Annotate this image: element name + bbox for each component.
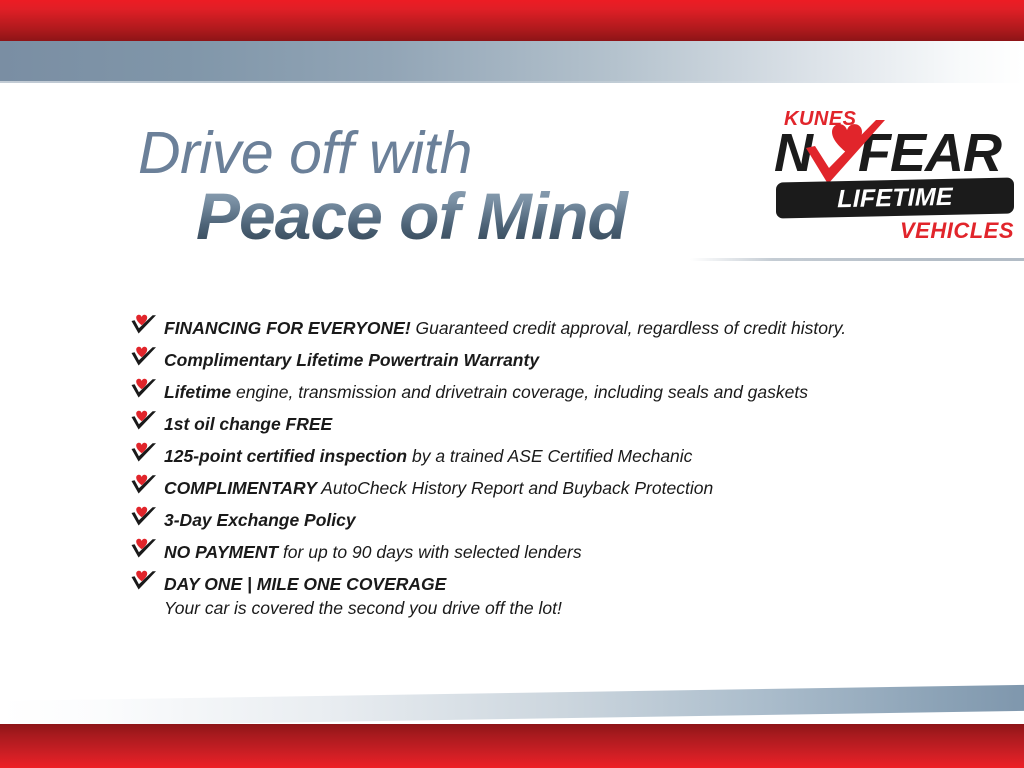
benefit-row: 1st oil change FREE	[130, 408, 930, 440]
benefit-text: 3-Day Exchange Policy	[164, 504, 930, 536]
benefit-text: 125-point certified inspection by a trai…	[164, 440, 930, 472]
heart-check-icon	[130, 537, 157, 559]
headline-line-1: Drive off with	[138, 122, 738, 184]
benefit-text: Lifetime engine, transmission and drivet…	[164, 376, 930, 408]
benefit-emphasis: DAY ONE | MILE ONE COVERAGE	[164, 574, 446, 594]
benefit-emphasis: FINANCING FOR EVERYONE!	[164, 318, 411, 338]
benefit-text: COMPLIMENTARY AutoCheck History Report a…	[164, 472, 930, 504]
heart-check-icon	[130, 377, 157, 399]
benefit-text: NO PAYMENT for up to 90 days with select…	[164, 536, 930, 568]
logo-banner-text: LIFETIME CERTIFIED	[776, 178, 1014, 219]
heart-check-icon	[130, 473, 157, 495]
top-red-band	[0, 0, 1024, 41]
heart-check-icon	[130, 345, 157, 367]
benefit-emphasis: 1st oil change FREE	[164, 414, 332, 434]
heart-check-icon	[130, 505, 157, 527]
headline-block: Drive off with Peace of Mind	[138, 122, 738, 252]
top-gray-band	[0, 41, 1024, 83]
benefit-row: NO PAYMENT for up to 90 days with select…	[130, 536, 930, 568]
benefit-row: FINANCING FOR EVERYONE! Guaranteed credi…	[130, 312, 930, 344]
bottom-gray-band	[0, 685, 1024, 727]
heart-check-icon	[130, 441, 157, 463]
benefit-emphasis: 125-point certified inspection	[164, 446, 407, 466]
heart-check-icon	[130, 313, 157, 335]
bottom-red-band	[0, 724, 1024, 768]
benefit-emphasis: Complimentary Lifetime Powertrain Warran…	[164, 350, 539, 370]
benefit-emphasis: Lifetime	[164, 382, 231, 402]
benefit-text: Complimentary Lifetime Powertrain Warran…	[164, 344, 930, 376]
benefit-detail: for up to 90 days with selected lenders	[278, 542, 582, 562]
benefit-detail: engine, transmission and drivetrain cove…	[231, 382, 808, 402]
heart-check-icon	[130, 569, 157, 591]
benefit-text: FINANCING FOR EVERYONE! Guaranteed credi…	[164, 312, 930, 344]
benefit-row: 3-Day Exchange Policy	[130, 504, 930, 536]
benefits-list: FINANCING FOR EVERYONE! Guaranteed credi…	[130, 312, 930, 620]
logo-banner-shape: LIFETIME CERTIFIED	[776, 178, 1014, 219]
benefit-row: Lifetime engine, transmission and drivet…	[130, 376, 930, 408]
benefit-row: Complimentary Lifetime Powertrain Warran…	[130, 344, 930, 376]
benefit-subtext: Your car is covered the second you drive…	[164, 596, 930, 620]
benefit-emphasis: COMPLIMENTARY	[164, 478, 317, 498]
benefit-detail: Guaranteed credit approval, regardless o…	[411, 318, 846, 338]
benefit-detail: by a trained ASE Certified Mechanic	[407, 446, 692, 466]
benefit-detail: AutoCheck History Report and Buyback Pro…	[317, 478, 713, 498]
headline-line-2: Peace of Mind	[196, 180, 738, 252]
headline-divider	[690, 258, 1024, 261]
benefit-emphasis: 3-Day Exchange Policy	[164, 510, 356, 530]
benefit-row: DAY ONE | MILE ONE COVERAGEYour car is c…	[130, 568, 930, 620]
benefit-emphasis: NO PAYMENT	[164, 542, 278, 562]
logo-vehicles-text: VEHICLES	[900, 218, 1014, 244]
heart-check-icon	[130, 409, 157, 431]
benefit-row: 125-point certified inspection by a trai…	[130, 440, 930, 472]
benefit-text: 1st oil change FREE	[164, 408, 930, 440]
benefit-row: COMPLIMENTARY AutoCheck History Report a…	[130, 472, 930, 504]
kunes-no-fear-logo: KUNES NFEAR LIFETIME CERTIFIED VEHICLES	[772, 108, 1018, 248]
